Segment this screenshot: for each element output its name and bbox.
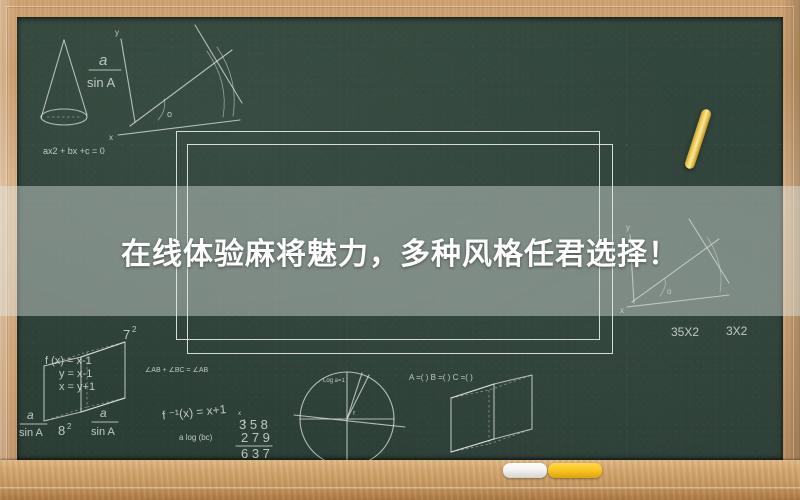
yellow-chalk-stick [684, 108, 713, 170]
banner-headline: 在线体验麻将魅力，多种风格任君选择！ [0, 186, 800, 316]
chalk-power-7-squared: 7 2 [123, 325, 137, 342]
chalk-cube-right [451, 375, 532, 452]
chalk-cube-left [44, 342, 125, 421]
chalk-axes-angle-topleft: y x o [109, 25, 242, 142]
chalk-log-expr: a log (bc) [179, 433, 213, 442]
svg-text:f ⁻¹(x) = x+1: f ⁻¹(x) = x+1 [161, 402, 227, 423]
svg-text:f (x) = x-1: f (x) = x-1 [45, 355, 92, 367]
svg-text:r: r [353, 410, 356, 417]
chalk-fraction-asina-bottomleft: a sin A [19, 408, 47, 439]
svg-text:o: o [167, 109, 172, 119]
chalk-fraction-asina-center: a sin A [91, 406, 118, 438]
svg-text:2 7 9: 2 7 9 [241, 430, 270, 445]
chalk-digit-stack: x 1 3 5 8 2 7 9 6 3 7 [236, 411, 272, 460]
chalk-quadratic-text: ax2 + bx +c = 0 [43, 146, 105, 156]
ledge-lip [0, 487, 800, 490]
svg-text:a: a [99, 52, 107, 69]
svg-text:sin A: sin A [19, 427, 44, 439]
svg-text:x: x [109, 133, 113, 142]
white-chalk-piece [503, 463, 547, 478]
svg-text:1: 1 [243, 419, 247, 425]
chalk-angle-sum: ∠AB + ∠BC = ∠AB [145, 366, 209, 374]
svg-text:y: y [115, 28, 119, 37]
chalk-fraction-asina-topleft: a sin A [87, 52, 121, 90]
svg-text:y = x-1: y = x-1 [59, 368, 92, 380]
chalk-label-35x2: 35X2 [671, 325, 699, 339]
chalk-inverse-function: f ⁻¹(x) = x+1 [161, 402, 227, 423]
chalk-matrix-row: A =( ) B =( ) C =( ) [409, 373, 473, 382]
svg-text:a: a [100, 406, 107, 420]
chalk-power-8-squared: 8 2 [58, 422, 72, 438]
chalkboard-banner: a sin A ax2 + bx +c = 0 y x o [0, 0, 800, 500]
chalk-cone-diagram [41, 40, 87, 125]
svg-text:sin A: sin A [91, 426, 116, 438]
chalk-circle-radius-diagram: r [294, 372, 405, 460]
svg-text:2: 2 [132, 325, 137, 334]
chalk-ledge [0, 460, 800, 500]
svg-text:2: 2 [67, 422, 72, 431]
svg-text:8: 8 [58, 423, 65, 438]
yellow-chalk-piece [548, 463, 602, 478]
chalk-label-3x2: 3X2 [726, 324, 748, 338]
chalk-log-small: Log a=1 [323, 378, 346, 384]
chalk-function-list: f (x) = x-1 y = x-1 x = y+1 [45, 355, 95, 393]
svg-text:3 5 8: 3 5 8 [239, 417, 268, 432]
svg-text:x: x [238, 411, 241, 417]
svg-text:x = y+1: x = y+1 [59, 381, 95, 393]
svg-text:6 3 7: 6 3 7 [241, 446, 270, 460]
svg-text:a: a [27, 408, 34, 422]
svg-text:sin A: sin A [87, 75, 116, 90]
svg-text:7: 7 [123, 327, 130, 342]
